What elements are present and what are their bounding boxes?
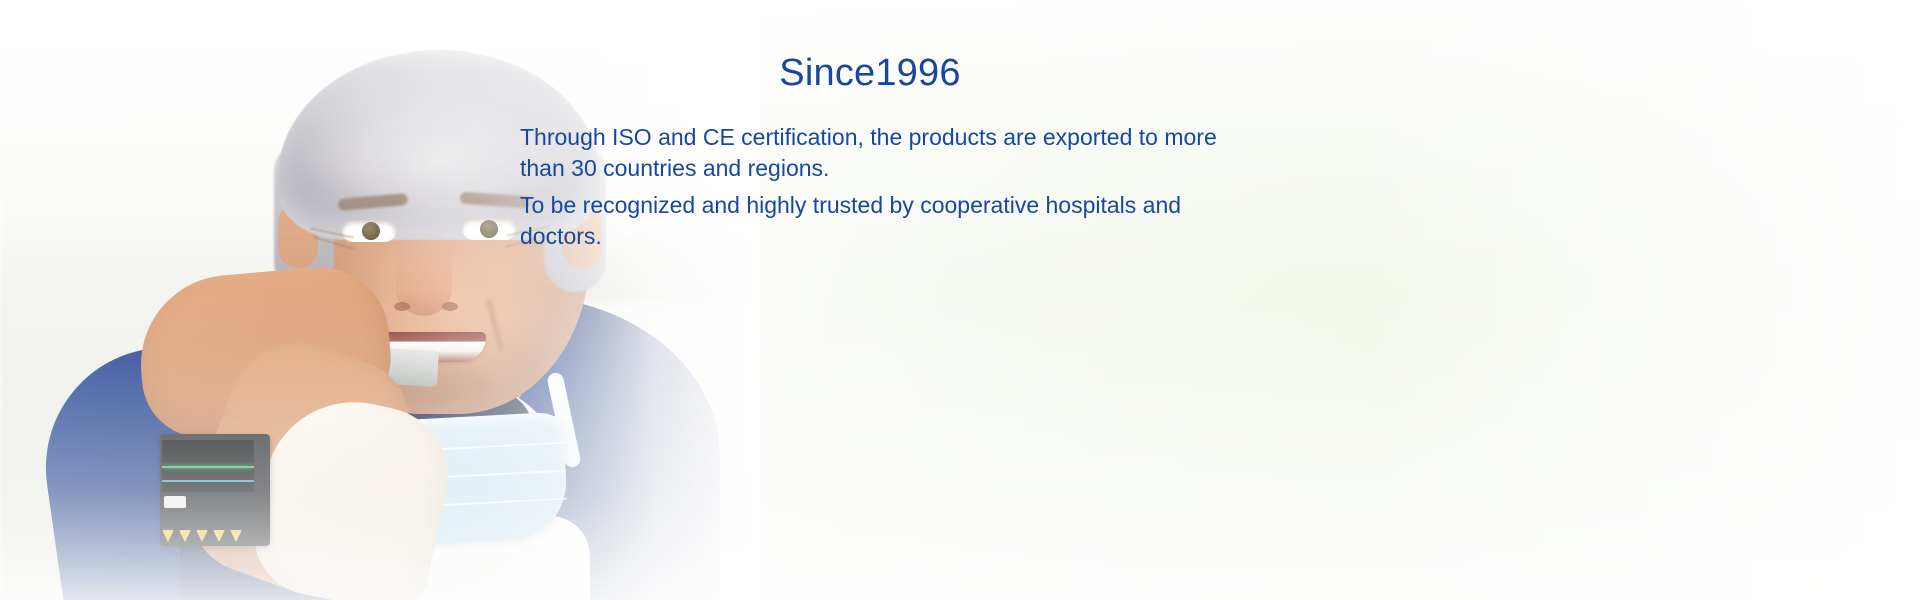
monitor-screen <box>162 440 254 492</box>
monitor-key[interactable] <box>162 530 174 542</box>
nostril-right <box>442 302 458 311</box>
eye-left <box>342 220 396 242</box>
monitor-key[interactable] <box>230 530 242 542</box>
eye-right <box>462 218 516 240</box>
page-title: Since1996 <box>520 52 1220 96</box>
hero-banner: WATT S Si <box>0 0 1920 600</box>
monitor-key[interactable] <box>179 530 191 542</box>
patient-monitor <box>160 434 270 546</box>
monitor-tab <box>164 496 186 508</box>
iris-right <box>480 220 498 238</box>
description-paragraph-1: Through ISO and CE certification, the pr… <box>520 122 1220 184</box>
monitor-key[interactable] <box>196 530 208 542</box>
description-paragraph-2: To be recognized and highly trusted by c… <box>520 190 1220 252</box>
monitor-key[interactable] <box>213 530 225 542</box>
description-block: Through ISO and CE certification, the pr… <box>520 122 1220 252</box>
iris-left <box>362 222 380 240</box>
ecg-trace <box>162 466 254 468</box>
nostril-left <box>394 302 410 311</box>
spo2-trace <box>162 480 254 482</box>
monitor-keys <box>162 530 242 542</box>
